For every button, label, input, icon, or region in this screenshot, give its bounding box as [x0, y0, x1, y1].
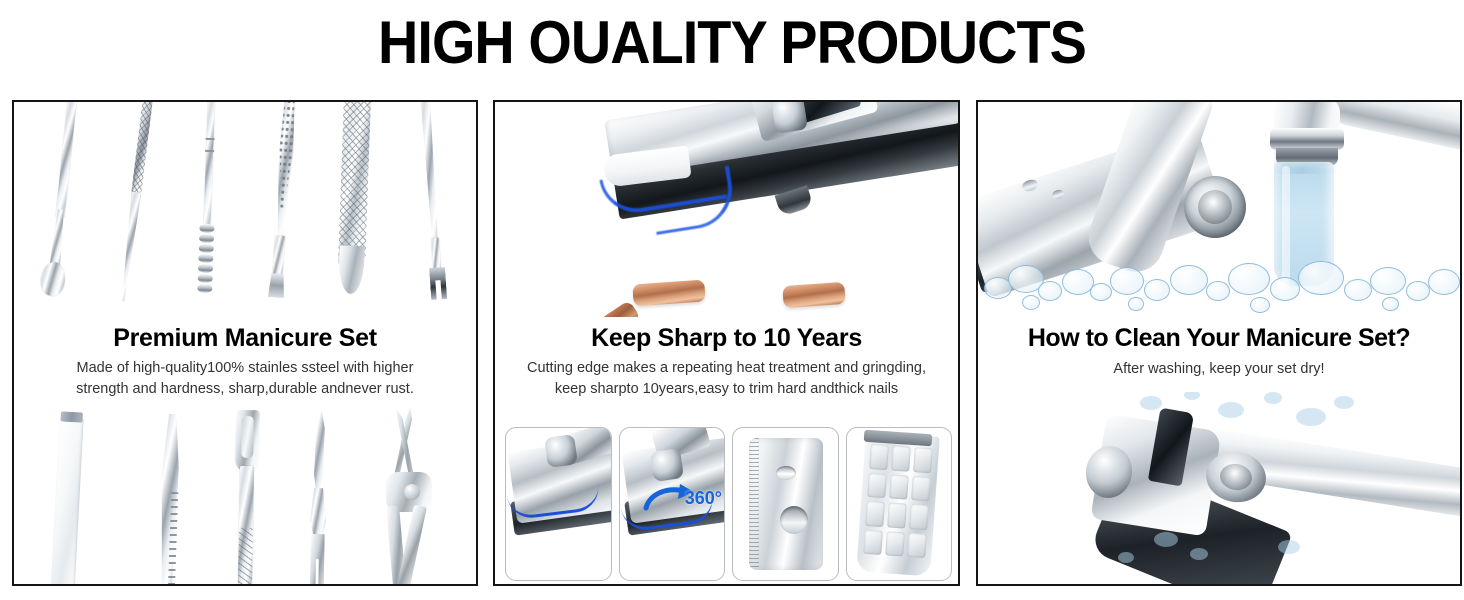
page-title: HIGH OUALITY PRODUCTS	[51, 8, 1413, 78]
panel-how-to-clean: How to Clean Your Manicure Set? After wa…	[976, 100, 1462, 586]
panel-1-subtitle-line-1: Made of high-quality100% stainles ssteel…	[36, 358, 454, 379]
copper-rod-tail	[504, 300, 641, 317]
metal-nail-file-tool	[337, 100, 371, 296]
panel-2-subtitle-line-2: keep sharpto 10years,easy to trim hard a…	[507, 379, 946, 400]
thumbnail-clipper-blade[interactable]	[505, 427, 612, 581]
small-hole	[776, 466, 796, 480]
cuticle-trimmer-tool	[229, 410, 264, 586]
nail-cleaner-tool	[416, 100, 448, 302]
faucet-washing-clipper-image	[978, 102, 1462, 317]
wet-clipper-image	[978, 392, 1462, 586]
perforated-pusher-tool	[262, 100, 304, 300]
spring-loop-tool	[197, 100, 218, 306]
thumbnail-rotating-head[interactable]: 360°	[619, 427, 726, 581]
infographic-page: HIGH OUALITY PRODUCTS	[0, 0, 1464, 600]
manicure-tools-bottom-image	[14, 412, 478, 586]
panel-2-subtitle: Cutting edge makes a repeating heat trea…	[495, 358, 958, 400]
large-hole	[780, 506, 808, 534]
panel-1-subtitle-line-2: strength and hardness, sharp,durable and…	[36, 379, 454, 400]
panel-2-title: Keep Sharp to 10 Years	[495, 324, 958, 353]
panel-1-subtitle: Made of high-quality100% stainles ssteel…	[14, 358, 476, 400]
manicure-tools-top-image	[14, 102, 478, 317]
glass-file-tool	[51, 411, 84, 586]
pointed-file-tool	[117, 100, 154, 302]
thumbnail-nail-file-surface[interactable]	[846, 427, 953, 581]
water-bubbles	[978, 255, 1462, 317]
rotation-badge-label: 360°	[685, 488, 722, 509]
blade-glow-right	[648, 166, 738, 235]
panel-3-subtitle: After washing, keep your set dry!	[978, 359, 1460, 380]
nail-clipper	[604, 102, 960, 231]
clipper-pin	[771, 102, 808, 134]
thumbnail-clipper-holes[interactable]	[732, 427, 839, 581]
panel-premium-manicure-set: Premium Manicure Set Made of high-qualit…	[12, 100, 478, 586]
feature-thumbnail-strip: 360°	[505, 427, 952, 583]
clipper-cutting-copper-image	[495, 102, 960, 317]
panels-row: Premium Manicure Set Made of high-qualit…	[0, 100, 1464, 586]
copper-cut-piece-2	[782, 282, 845, 308]
cuticle-nipper-tool	[370, 406, 456, 586]
cuticle-knife-tool	[301, 408, 334, 586]
panel-3-title: How to Clean Your Manicure Set?	[978, 324, 1460, 353]
panel-2-subtitle-line-1: Cutting edge makes a repeating heat trea…	[507, 358, 946, 379]
clipper-ring	[1184, 176, 1246, 238]
faucet-arm	[1325, 102, 1462, 154]
panel-1-title: Premium Manicure Set	[14, 324, 476, 353]
panel-keep-sharp: Keep Sharp to 10 Years Cutting edge make…	[493, 100, 960, 586]
cuticle-pusher-tool	[45, 100, 79, 298]
serrated-file-tool	[154, 414, 184, 586]
